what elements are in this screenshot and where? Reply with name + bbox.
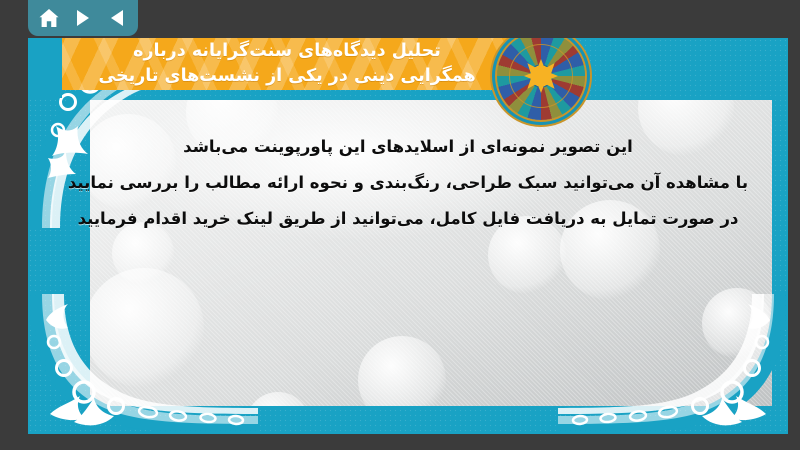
body-line-2: با مشاهده آن می‌توانید سبک طراحی، رنگ‌بن… [54, 170, 762, 196]
medallion-star-center [524, 59, 558, 93]
body-line-3: در صورت تمایل به دریافت فایل کامل، می‌تو… [54, 206, 762, 232]
triangle-left-icon [108, 8, 126, 28]
slide-title-line-2: همگرایی دینی در یکی از نشست‌های تاریخی [42, 64, 532, 89]
home-button[interactable] [38, 6, 60, 30]
slide-body-text: این تصویر نمونه‌ای از اسلایدهای این پاور… [28, 134, 788, 232]
triangle-right-icon [74, 8, 92, 28]
slide-navigation-bar [28, 0, 138, 36]
slide-viewer: تحلیل دیدگاه‌های سنت‌گرایانه درباره همگر… [0, 0, 800, 450]
slide-canvas: تحلیل دیدگاه‌های سنت‌گرایانه درباره همگر… [28, 38, 788, 434]
previous-slide-button[interactable] [106, 6, 128, 30]
slide-title-line-1: تحلیل دیدگاه‌های سنت‌گرایانه درباره [42, 39, 532, 64]
slide-title: تحلیل دیدگاه‌های سنت‌گرایانه درباره همگر… [28, 38, 546, 89]
body-line-1: این تصویر نمونه‌ای از اسلایدهای این پاور… [54, 134, 762, 160]
banner-left-teal-block [28, 38, 62, 98]
slide-title-banner: تحلیل دیدگاه‌های سنت‌گرایانه درباره همگر… [28, 38, 546, 90]
next-slide-button[interactable] [72, 6, 94, 30]
home-icon [38, 8, 60, 29]
